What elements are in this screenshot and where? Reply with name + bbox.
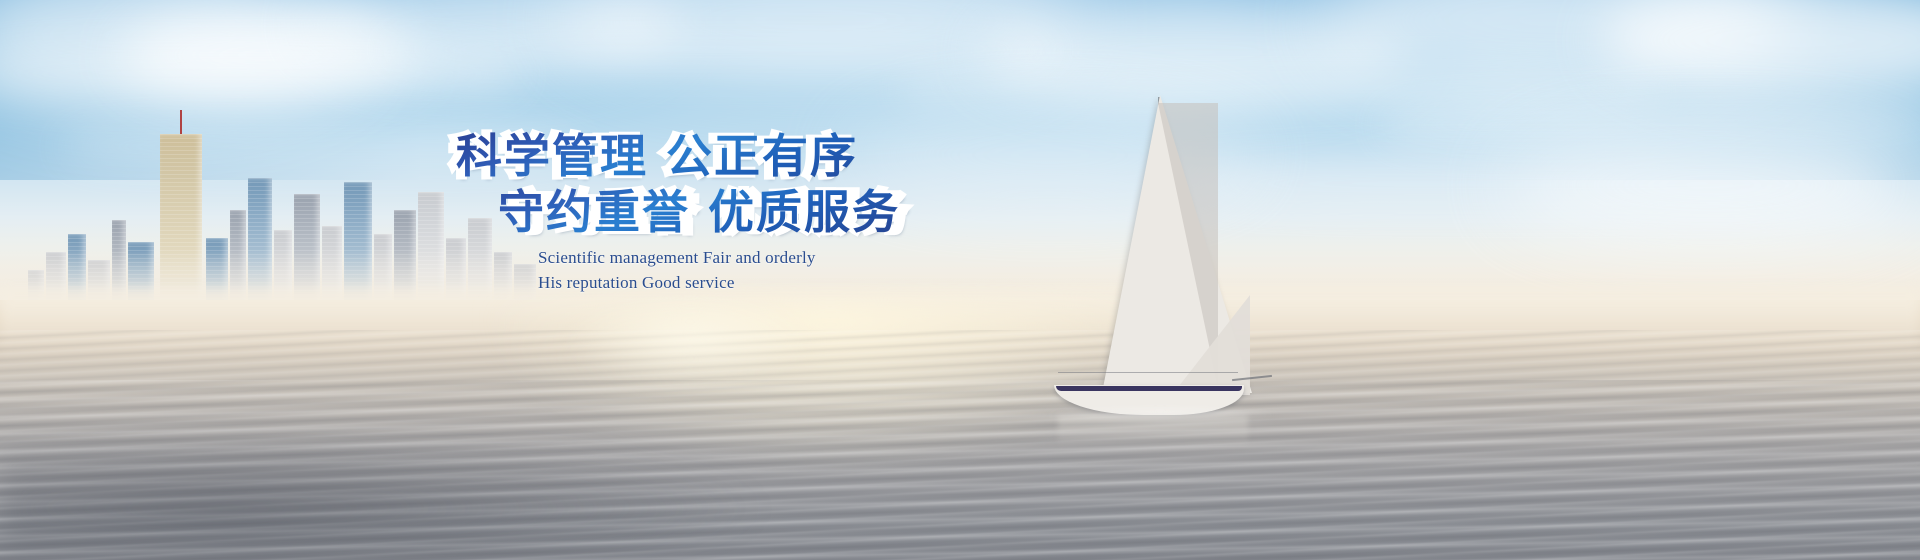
hull-stripe xyxy=(1056,386,1242,391)
sailboat xyxy=(1040,95,1300,435)
deck-railing xyxy=(1058,372,1238,386)
slogan-line-2: 守约重誉 优质服务 守约重誉 优质服务 xyxy=(450,184,910,240)
cloud-shape xyxy=(1500,130,1920,240)
subtitle-line-1: Scientific management Fair and orderly xyxy=(538,245,816,270)
subtitle-line-2: His reputation Good service xyxy=(538,270,735,295)
slogan-line-1: 科学管理 公正有序 科学管理 公正有序 xyxy=(450,128,910,184)
slogan-line-1-fill: 科学管理 公正有序 xyxy=(456,128,910,184)
boat-reflection xyxy=(1058,415,1248,447)
antenna-spire xyxy=(180,110,182,134)
water-shadow xyxy=(0,430,760,560)
slogan-block: 科学管理 公正有序 科学管理 公正有序 守约重誉 优质服务 守约重誉 优质服务 xyxy=(450,128,910,240)
hero-banner: 科学管理 公正有序 科学管理 公正有序 守约重誉 优质服务 守约重誉 优质服务 … xyxy=(0,0,1920,560)
slogan-line-2-fill: 守约重誉 优质服务 xyxy=(450,184,900,240)
